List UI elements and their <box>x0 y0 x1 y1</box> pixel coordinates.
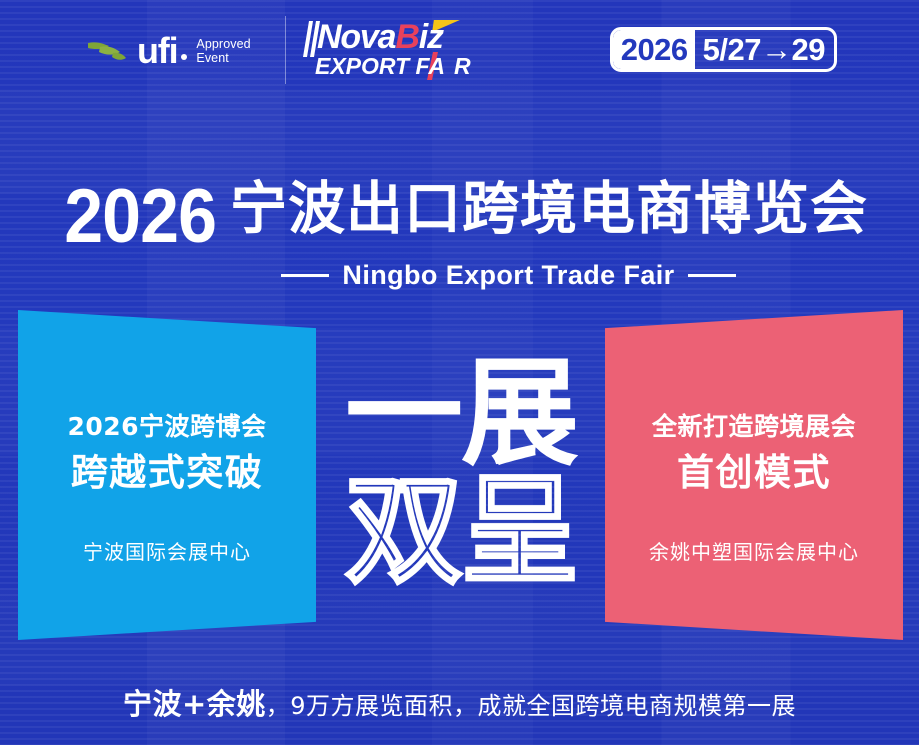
novabiz-tagline: EXPORT FAR <box>315 53 471 79</box>
ufi-wordmark: ufi <box>137 33 177 69</box>
panel-right-yuyao: 全新打造跨境展会 首创模式 余姚中塑国际会展中心 <box>605 310 903 640</box>
footer-tagline: 宁波+余姚，9万方展览面积，成就全国跨境电商规模第一展 <box>0 681 919 723</box>
title-english: Ningbo Export Trade Fair <box>342 260 674 290</box>
novabiz-wordmark: NovaBiz <box>317 18 443 56</box>
panel-right-big-text: 首创模式 <box>677 451 831 495</box>
ufi-approved-line: Approved <box>196 37 250 51</box>
footer-rest-text: ，9万方展览面积，成就全国跨境电商规模第一展 <box>266 692 796 720</box>
slogan-line-one: 一展 <box>316 352 606 474</box>
ufi-dot-icon <box>181 54 187 60</box>
novabiz-b: B <box>395 18 418 56</box>
novabiz-nova: Nova <box>317 18 395 56</box>
novabiz-i: i <box>419 18 427 56</box>
main-title-row: 2026 宁波出口跨境电商博览会 <box>0 178 919 256</box>
ufi-approved-event: Approved Event <box>196 37 250 65</box>
panel-left-big-text: 跨越式突破 <box>71 451 264 495</box>
slogan-line-two: 双呈 <box>316 470 606 592</box>
novabiz-z: z <box>427 18 443 56</box>
header-divider <box>285 16 286 84</box>
ufi-event-line: Event <box>196 51 250 65</box>
subtitle-rule-right <box>688 274 736 277</box>
date-badge-year: 2026 <box>613 30 695 69</box>
panel-left-small-text: 2026宁波跨博会 <box>67 412 266 442</box>
panel-left-ningbo: 2026宁波跨博会 跨越式突破 宁波国际会展中心 <box>18 310 316 640</box>
novabiz-tagline-main: EXPORT FA <box>315 53 445 79</box>
novabiz-logo: NovaBiz EXPORT FAR <box>303 20 478 82</box>
title-chinese: 宁波出口跨境电商博览会 <box>230 178 868 240</box>
ufi-logo: ufi Approved Event <box>86 29 251 73</box>
ufi-leaf-icon <box>86 38 134 64</box>
novabiz-tagline-tail: R <box>445 53 471 79</box>
center-slogan: 一展 双呈 <box>316 352 606 620</box>
panel-right-venue: 余姚中塑国际会展中心 <box>649 539 859 565</box>
main-title-block: 2026 宁波出口跨境电商博览会 Ningbo Export Trade Fai… <box>0 178 919 290</box>
panel-right-small-text: 全新打造跨境展会 <box>652 412 856 442</box>
subtitle-rule-left <box>281 274 329 277</box>
panel-left-venue: 宁波国际会展中心 <box>83 539 251 565</box>
title-year: 2026 <box>64 178 216 256</box>
date-badge: 2026 5/27→29 <box>610 27 837 72</box>
footer-strong-text: 宁波+余姚 <box>123 687 266 721</box>
header-bar: ufi Approved Event NovaBiz EXPORT FAR 20… <box>0 0 919 100</box>
title-subtitle-row: Ningbo Export Trade Fair <box>98 260 919 290</box>
date-badge-range: 5/27→29 <box>695 30 834 69</box>
poster-canvas: ufi Approved Event NovaBiz EXPORT FAR 20… <box>0 0 919 745</box>
